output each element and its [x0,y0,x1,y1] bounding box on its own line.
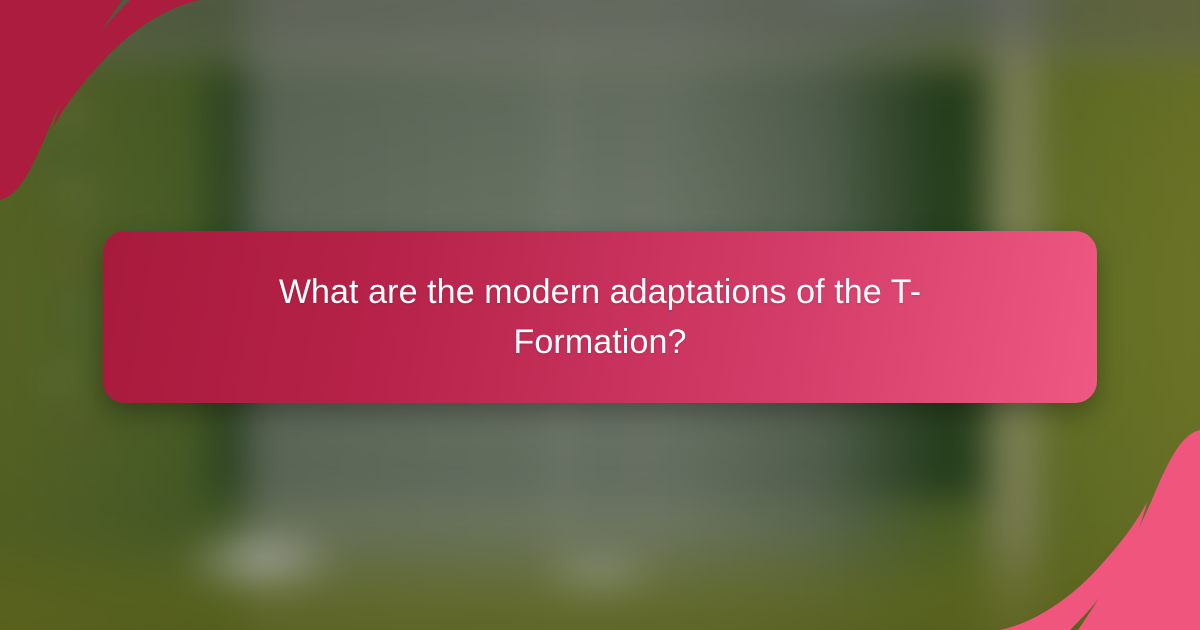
question-title: What are the modern adaptations of the T… [250,267,950,367]
social-card: What are the modern adaptations of the T… [0,0,1200,630]
question-card: What are the modern adaptations of the T… [103,231,1097,403]
